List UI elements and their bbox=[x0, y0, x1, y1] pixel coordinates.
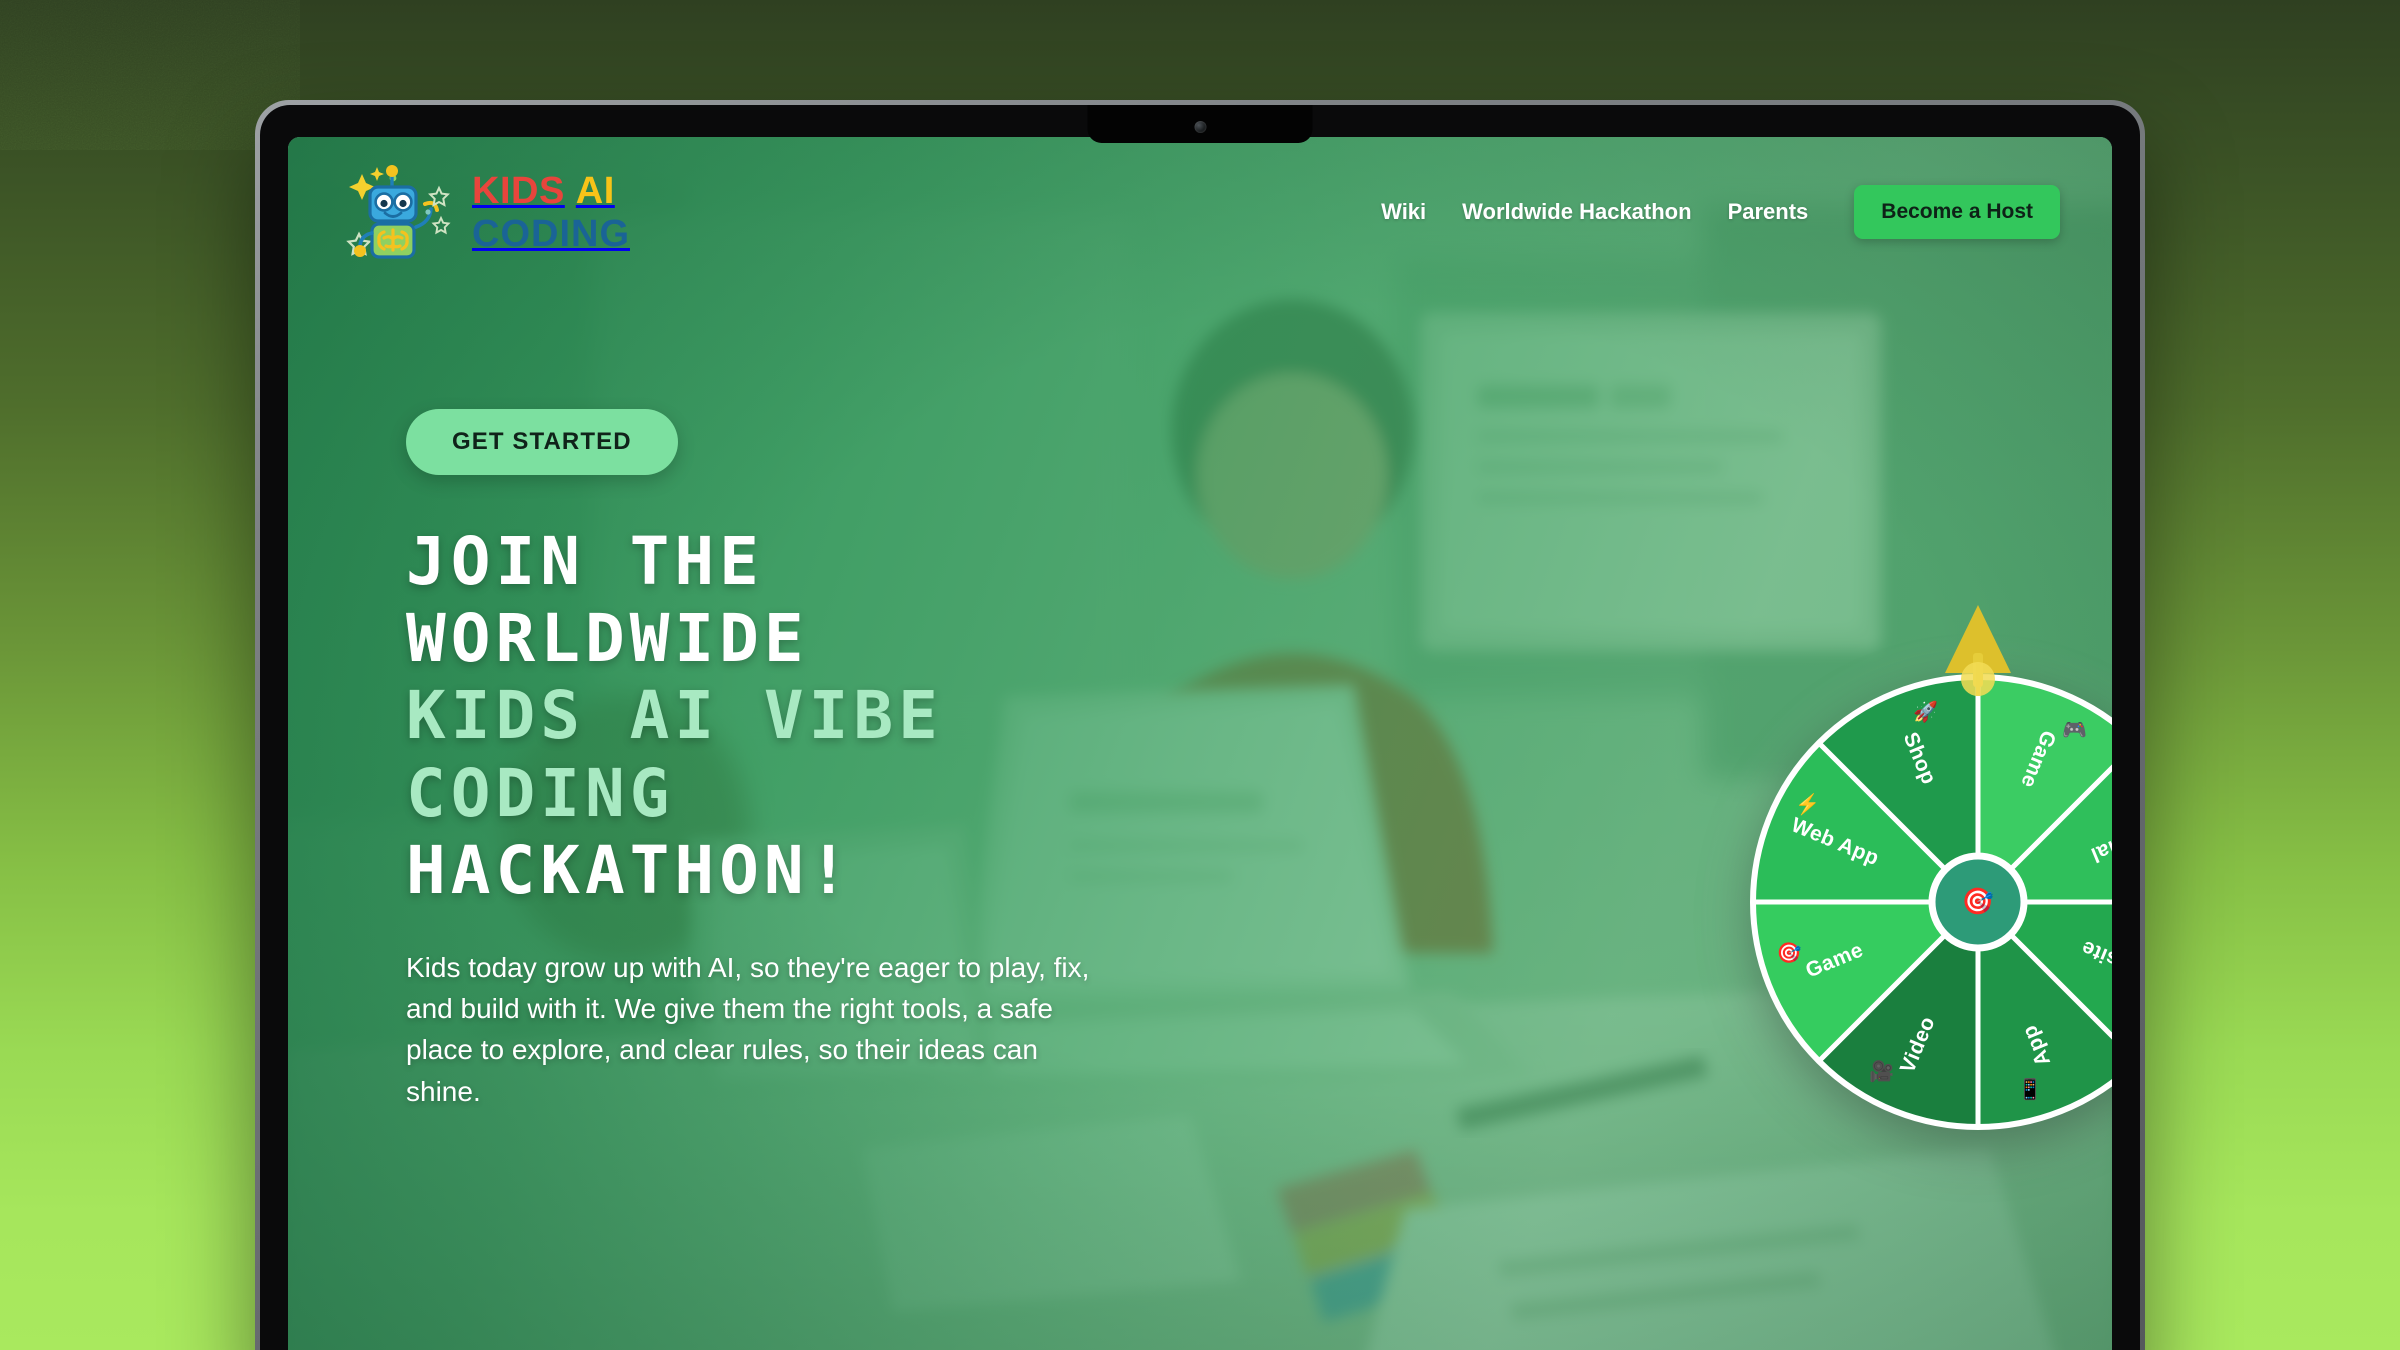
triangle-pointer-icon bbox=[1931, 601, 2025, 697]
laptop-device: KIDS AI CODING Wiki Worldwide Hackathon … bbox=[255, 100, 2145, 1350]
hero-content: GET STARTED JOIN THE WORLDWIDE KIDS AI V… bbox=[406, 409, 1236, 1112]
movie-camera-icon: 🎥 bbox=[1869, 1059, 1894, 1083]
brand-word-kids: KIDS bbox=[472, 172, 565, 210]
headline-line-5: HACKATHON! bbox=[406, 832, 1236, 909]
browser-viewport: KIDS AI CODING Wiki Worldwide Hackathon … bbox=[288, 137, 2112, 1350]
page-backdrop: KIDS AI CODING Wiki Worldwide Hackathon … bbox=[0, 0, 2400, 1350]
page-title: JOIN THE WORLDWIDE KIDS AI VIBE CODING H… bbox=[406, 523, 1236, 909]
brand-word-ai: AI bbox=[576, 172, 615, 210]
spin-wheel[interactable]: Game🎮Social📱Website🌐App📱Video🎥Game🎯Web A… bbox=[1693, 607, 2112, 1177]
webcam-icon bbox=[1194, 121, 1206, 133]
mobile-app-icon: 📱 bbox=[2018, 1077, 2043, 1101]
laptop-bezel: KIDS AI CODING Wiki Worldwide Hackathon … bbox=[260, 105, 2140, 1350]
lightning-icon: ⚡ bbox=[1795, 792, 1820, 816]
brand-word-coding: CODING bbox=[472, 215, 630, 253]
headline-line-2: WORLDWIDE bbox=[406, 600, 1236, 677]
hero-paragraph: Kids today grow up with AI, so they're e… bbox=[406, 947, 1106, 1112]
site-header: KIDS AI CODING Wiki Worldwide Hackathon … bbox=[288, 137, 2112, 287]
headline-line-1: JOIN THE bbox=[406, 523, 1236, 600]
headline-line-3: KIDS AI VIBE bbox=[406, 677, 1236, 754]
headline-line-4: CODING bbox=[406, 755, 1236, 832]
wheel-graphic[interactable]: Game🎮Social📱Website🌐App📱Video🎥Game🎯Web A… bbox=[1693, 607, 2112, 1177]
rocket-icon: 🚀 bbox=[1913, 699, 1938, 723]
nav-link-wiki[interactable]: Wiki bbox=[1381, 199, 1426, 225]
become-a-host-button[interactable]: Become a Host bbox=[1854, 185, 2060, 239]
gamepad-icon: 🎮 bbox=[2062, 720, 2087, 742]
nav-link-worldwide-hackathon[interactable]: Worldwide Hackathon bbox=[1462, 199, 1691, 225]
nav-link-parents[interactable]: Parents bbox=[1728, 199, 1809, 225]
dart-icon: 🎯 bbox=[1777, 942, 1802, 965]
robot-brain-icon bbox=[346, 160, 458, 264]
dart-target-icon: 🎯 bbox=[1962, 886, 1994, 916]
brand-logo-link[interactable]: KIDS AI CODING bbox=[346, 160, 630, 264]
main-navigation: Wiki Worldwide Hackathon Parents Become … bbox=[1381, 185, 2060, 239]
get-started-button[interactable]: GET STARTED bbox=[406, 409, 678, 475]
laptop-notch bbox=[1088, 105, 1313, 143]
